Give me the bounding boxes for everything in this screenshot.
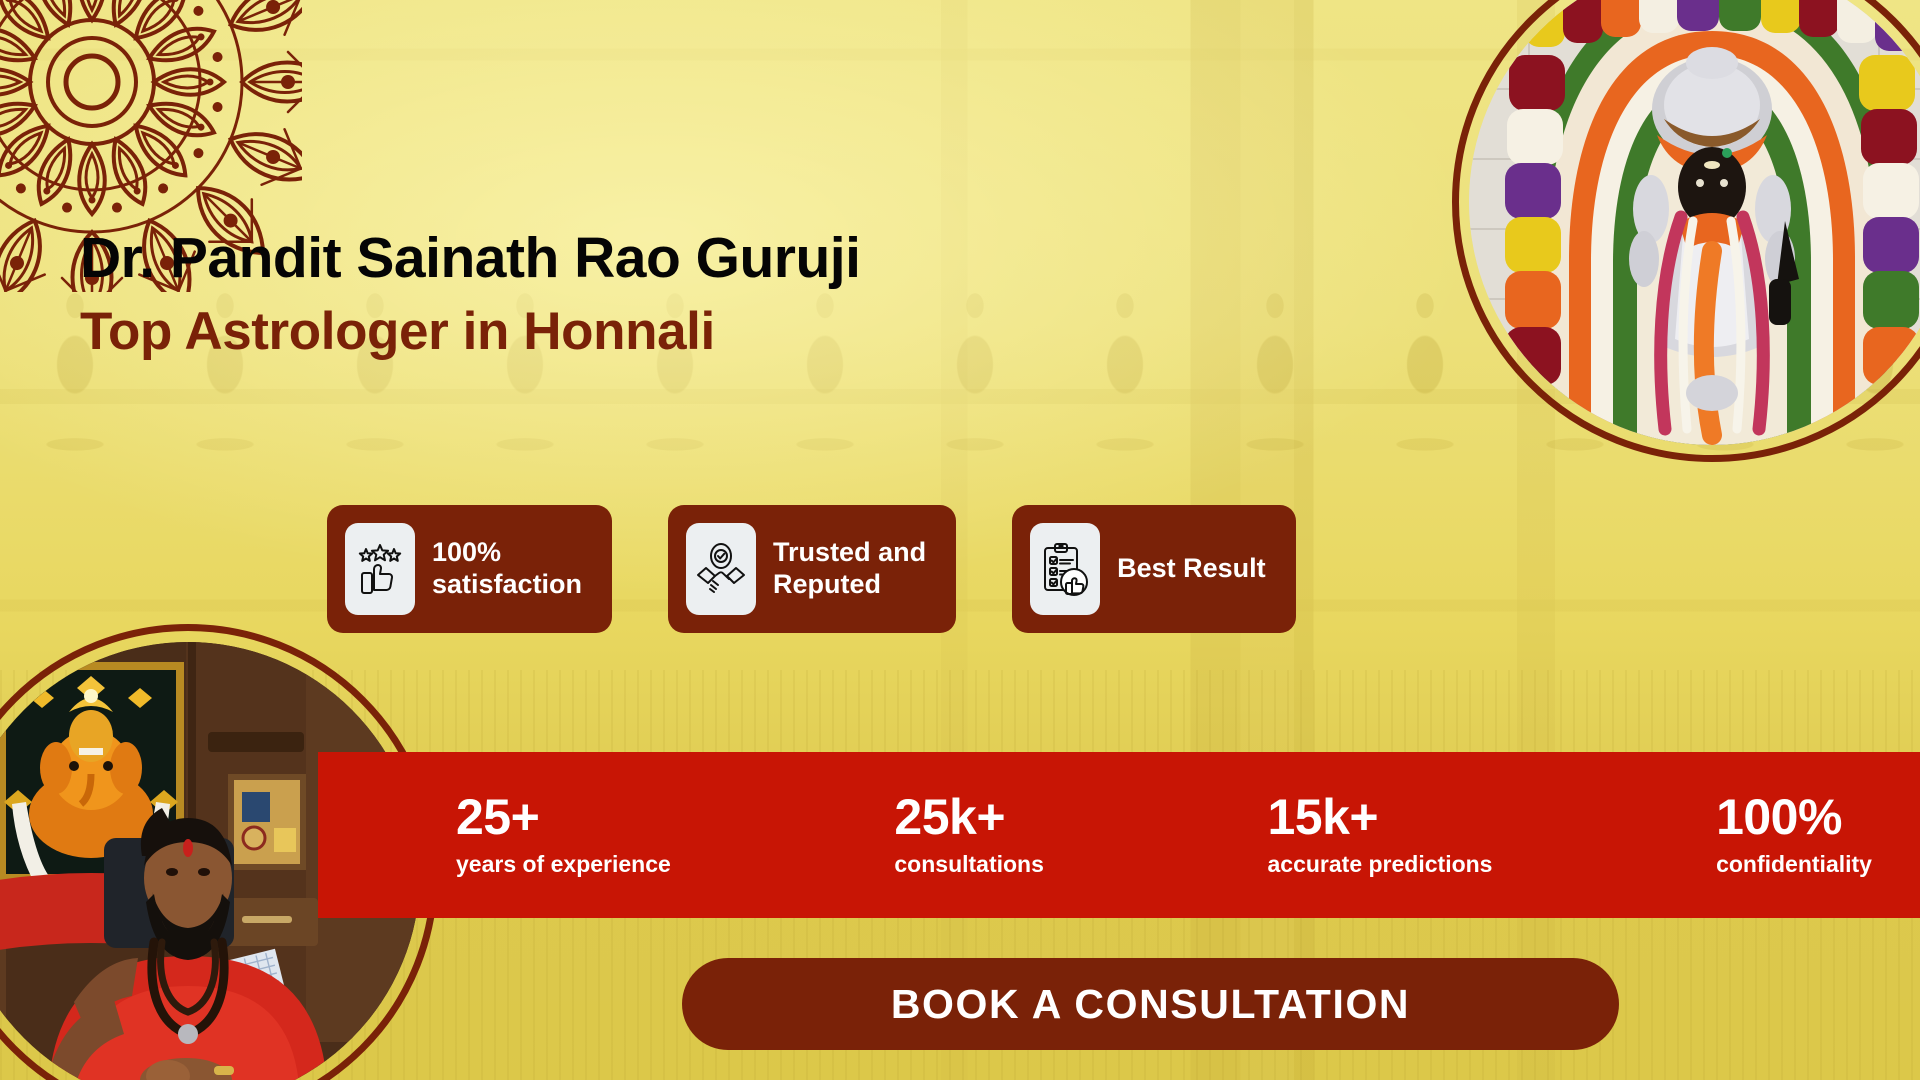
stat-label: years of experience	[456, 851, 671, 878]
stat-item: 25+ years of experience	[456, 792, 671, 878]
stat-value: 25+	[456, 792, 671, 842]
book-consultation-button[interactable]: BOOK A CONSULTATION	[682, 958, 1619, 1050]
stat-value: 15k+	[1268, 792, 1493, 842]
stat-item: 25k+ consultations	[894, 792, 1044, 878]
badge-label: Trusted and Reputed	[773, 537, 926, 601]
trust-badges: 100% satisfaction Trusted and Reputed	[327, 505, 1296, 633]
clipboard-checklist-thumbsup-icon	[1030, 523, 1100, 615]
stat-item: 15k+ accurate predictions	[1268, 792, 1493, 878]
badge-label: Best Result	[1117, 553, 1266, 585]
stat-item: 100% confidentiality	[1716, 792, 1872, 878]
thumbs-up-stars-icon	[345, 523, 415, 615]
deity-photo-ring	[1452, 0, 1920, 462]
page-title: Dr. Pandit Sainath Rao Guruji	[80, 228, 860, 288]
page-subtitle: Top Astrologer in Honnali	[80, 304, 860, 360]
headline-block: Dr. Pandit Sainath Rao Guruji Top Astrol…	[80, 228, 860, 361]
badge-satisfaction[interactable]: 100% satisfaction	[327, 505, 612, 633]
handshake-verified-icon	[686, 523, 756, 615]
deity-idol-photo	[1452, 0, 1920, 462]
astrologer-promo-banner: 25+ years of experience 25k+ consultatio…	[0, 0, 1920, 1080]
stat-label: accurate predictions	[1268, 851, 1493, 878]
stats-bar: 25+ years of experience 25k+ consultatio…	[318, 752, 1920, 918]
stat-value: 100%	[1716, 792, 1872, 842]
stat-value: 25k+	[894, 792, 1044, 842]
badge-label: 100% satisfaction	[432, 537, 582, 601]
badge-best-result[interactable]: Best Result	[1012, 505, 1296, 633]
stat-label: consultations	[894, 851, 1044, 878]
badge-trusted[interactable]: Trusted and Reputed	[668, 505, 956, 633]
stat-label: confidentiality	[1716, 851, 1872, 878]
